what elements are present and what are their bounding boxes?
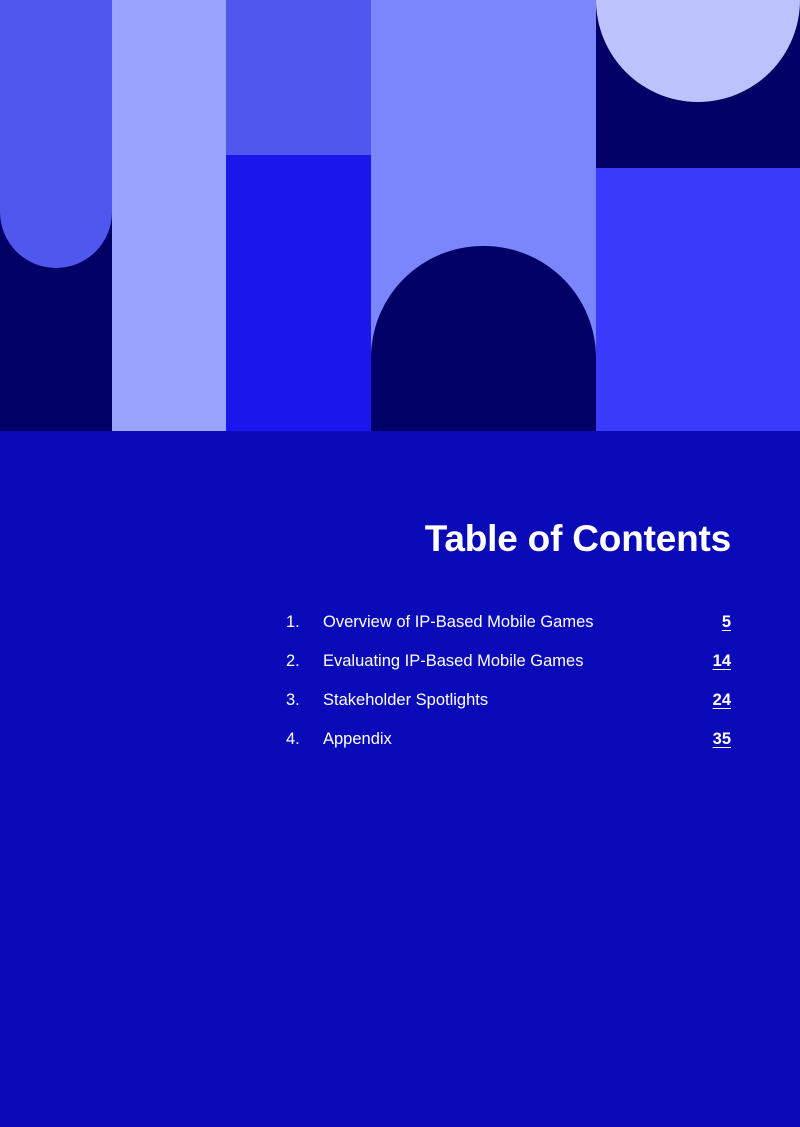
toc-entry-page[interactable]: 24 — [707, 691, 731, 710]
pattern-column-4 — [371, 0, 596, 431]
toc-entry-number: 4. — [286, 730, 323, 749]
pattern-column-1 — [0, 0, 112, 431]
toc-entry-page[interactable]: 35 — [707, 730, 731, 749]
toc-page: Table of Contents 1. Overview of IP-Base… — [0, 0, 800, 1127]
toc-entry-4[interactable]: 4. Appendix 35 — [286, 730, 731, 769]
split-block-shape — [226, 0, 371, 155]
navy-panel — [596, 0, 800, 168]
toc-entry-title[interactable]: Overview of IP-Based Mobile Games — [323, 613, 707, 632]
pattern-column-3 — [226, 0, 371, 431]
decorative-pattern-band — [0, 0, 800, 431]
arch-shape — [371, 246, 596, 431]
toc-entry-page[interactable]: 5 — [707, 613, 731, 632]
toc-entry-3[interactable]: 3. Stakeholder Spotlights 24 — [286, 691, 731, 730]
toc-entry-number: 1. — [286, 613, 323, 632]
toc-entry-title[interactable]: Appendix — [323, 730, 707, 749]
toc-entry-title[interactable]: Evaluating IP-Based Mobile Games — [323, 652, 707, 671]
rounded-bottom-bar-shape — [0, 0, 112, 268]
toc-entry-1[interactable]: 1. Overview of IP-Based Mobile Games 5 — [286, 613, 731, 652]
toc-entry-title[interactable]: Stakeholder Spotlights — [323, 691, 707, 710]
toc-list: 1. Overview of IP-Based Mobile Games 5 2… — [286, 613, 731, 769]
pattern-column-2 — [112, 0, 226, 431]
toc-entry-number: 2. — [286, 652, 323, 671]
toc-entry-2[interactable]: 2. Evaluating IP-Based Mobile Games 14 — [286, 652, 731, 691]
page-title: Table of Contents — [70, 519, 731, 560]
toc-entry-page[interactable]: 14 — [707, 652, 731, 671]
toc-content: Table of Contents 1. Overview of IP-Base… — [0, 431, 800, 1127]
toc-entry-number: 3. — [286, 691, 323, 710]
half-circle-shape — [596, 0, 800, 102]
pattern-column-5 — [596, 0, 800, 431]
